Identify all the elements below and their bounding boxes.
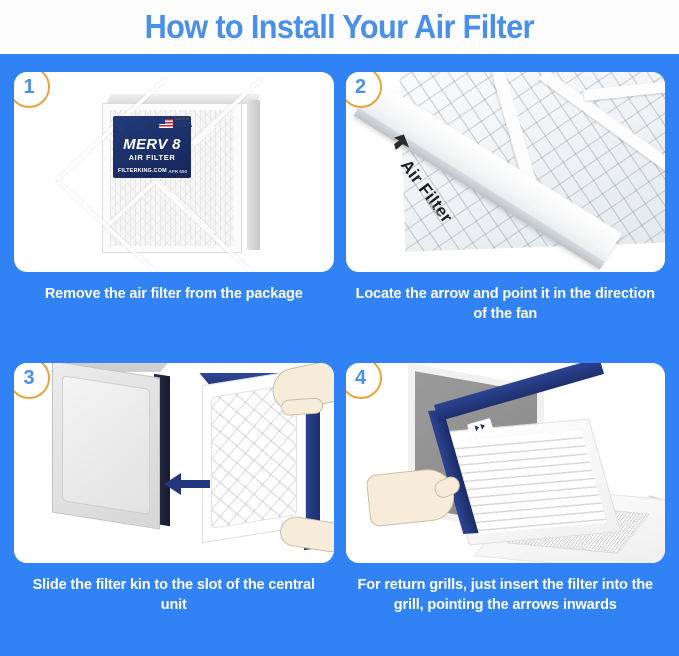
filter-corner-closeup-photo: Air Filter AIRFLOW — [346, 72, 666, 272]
slide-into-unit-illustration — [14, 363, 334, 563]
step-4-caption: For return grills, just insert the filte… — [346, 575, 666, 615]
return-grill-illustration — [346, 363, 666, 563]
arrow-glyph — [480, 422, 485, 429]
header-bar: How to Install Your Air Filter — [0, 0, 679, 54]
left-pointing-insert-arrow-icon — [164, 471, 210, 497]
step-1-number-badge: 1 — [14, 72, 50, 108]
step-1: MERV 8 AIR FILTER FILTERKING.COM APR 650… — [14, 72, 334, 357]
made-in-usa-text: MADE IN USA — [175, 118, 193, 129]
usa-flag-icon — [159, 119, 173, 128]
step-4: 4 For return grills, just insert the fil… — [346, 363, 666, 648]
filter-front-face: MERV 8 AIR FILTER FILTERKING.COM APR 650… — [102, 103, 242, 253]
step-2-caption: Locate the arrow and point it in the dir… — [346, 284, 666, 324]
step-4-card: 4 — [346, 363, 666, 563]
page-title: How to Install Your Air Filter — [145, 8, 534, 46]
hand-lower — [278, 514, 333, 553]
usa-text: USA — [175, 121, 193, 129]
arrow-glyph — [474, 424, 479, 431]
made-in-usa-badge: MADE IN USA — [159, 118, 193, 129]
label-apr-text: APR 650 — [168, 169, 187, 174]
central-unit-body — [52, 363, 160, 530]
brand-line-2: KING — [127, 125, 143, 132]
step-1-card: MERV 8 AIR FILTER FILTERKING.COM APR 650… — [14, 72, 334, 272]
brand-text: FILTER KING — [127, 119, 149, 132]
step-1-caption: Remove the air filter from the package — [14, 284, 334, 304]
filter-side-edge — [247, 100, 260, 250]
steps-grid: MERV 8 AIR FILTER FILTERKING.COM APR 650… — [0, 54, 679, 656]
unit-inner-panel — [62, 375, 150, 515]
step-2-card: Air Filter AIRFLOW 2 — [346, 72, 666, 272]
step-3: 3 Slide the filter kin to the slot of th… — [14, 363, 334, 648]
label-website-text: FILTERKING.COM — [118, 168, 167, 174]
step-3-caption: Slide the filter kin to the slot of the … — [14, 575, 334, 615]
filter-king-brand-lockup: FILTER KING — [116, 119, 149, 132]
label-subtitle-text: AIR FILTER — [113, 153, 191, 162]
step-2: Air Filter AIRFLOW 2 Locate the arrow an… — [346, 72, 666, 357]
merv-rating-text: MERV 8 — [113, 136, 191, 153]
air-filter-product-photo: MERV 8 AIR FILTER FILTERKING.COM APR 650… — [102, 94, 260, 256]
infographic-page: How to Install Your Air Filter — [0, 0, 679, 656]
crown-icon — [116, 120, 125, 131]
step-3-card: 3 — [14, 363, 334, 563]
